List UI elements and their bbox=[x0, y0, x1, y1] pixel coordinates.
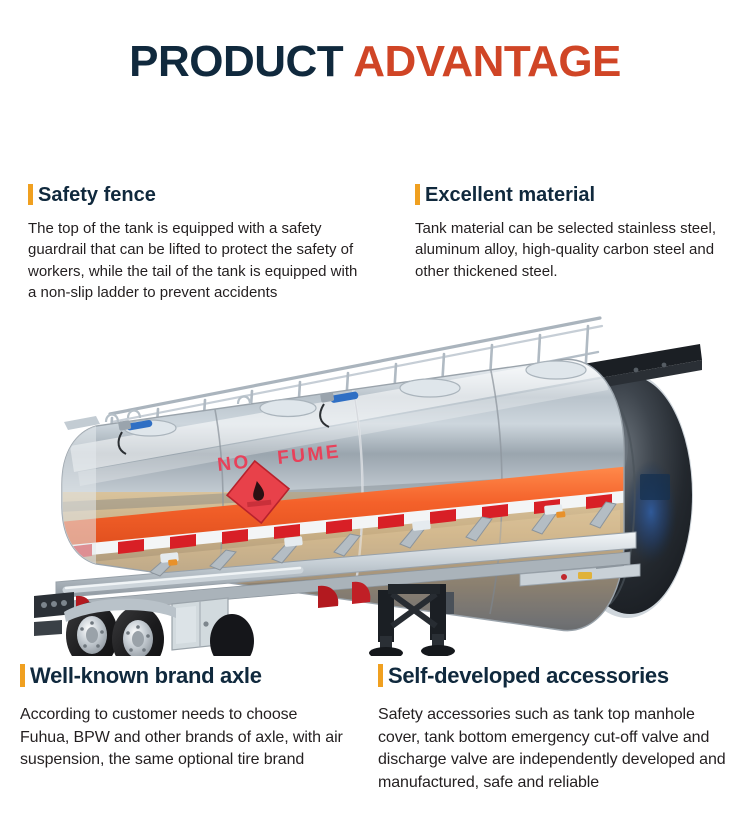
feature-block-well-known-brand-axle: Well-known brand axle According to custo… bbox=[20, 664, 350, 772]
feature-title: Excellent material bbox=[425, 185, 595, 205]
feature-title: Self-developed accessories bbox=[388, 665, 669, 687]
accent-bar-icon bbox=[28, 184, 33, 205]
accent-bar-icon bbox=[20, 664, 25, 687]
feature-title: Safety fence bbox=[38, 185, 156, 205]
side-marker-lamp bbox=[168, 559, 178, 566]
product-image-tanker-trailer: NO FUME bbox=[0, 296, 750, 656]
feature-heading: Well-known brand axle bbox=[20, 664, 350, 687]
feature-description: Safety accessories such as tank top manh… bbox=[378, 704, 738, 795]
feature-heading: Self-developed accessories bbox=[378, 664, 738, 687]
side-marker-lamp bbox=[556, 511, 566, 518]
accent-bar-icon bbox=[378, 664, 383, 687]
accent-bar-icon bbox=[415, 184, 420, 205]
feature-block-self-developed-accessories: Self-developed accessories Safety access… bbox=[378, 664, 738, 795]
page-title-primary: PRODUCT bbox=[129, 37, 343, 86]
feature-heading: Excellent material bbox=[415, 184, 725, 205]
feature-block-excellent-material: Excellent material Tank material can be … bbox=[415, 184, 725, 282]
feature-title: Well-known brand axle bbox=[30, 665, 262, 687]
page-title: PRODUCT ADVANTAGE bbox=[0, 40, 750, 84]
wheel bbox=[112, 606, 164, 656]
page-title-accent: ADVANTAGE bbox=[343, 37, 621, 86]
feature-description: According to customer needs to choose Fu… bbox=[20, 704, 350, 772]
feature-heading: Safety fence bbox=[28, 184, 358, 205]
feature-description: The top of the tank is equipped with a s… bbox=[28, 218, 358, 303]
feature-description: Tank material can be selected stainless … bbox=[415, 218, 725, 282]
feature-block-safety-fence: Safety fence The top of the tank is equi… bbox=[28, 184, 358, 303]
